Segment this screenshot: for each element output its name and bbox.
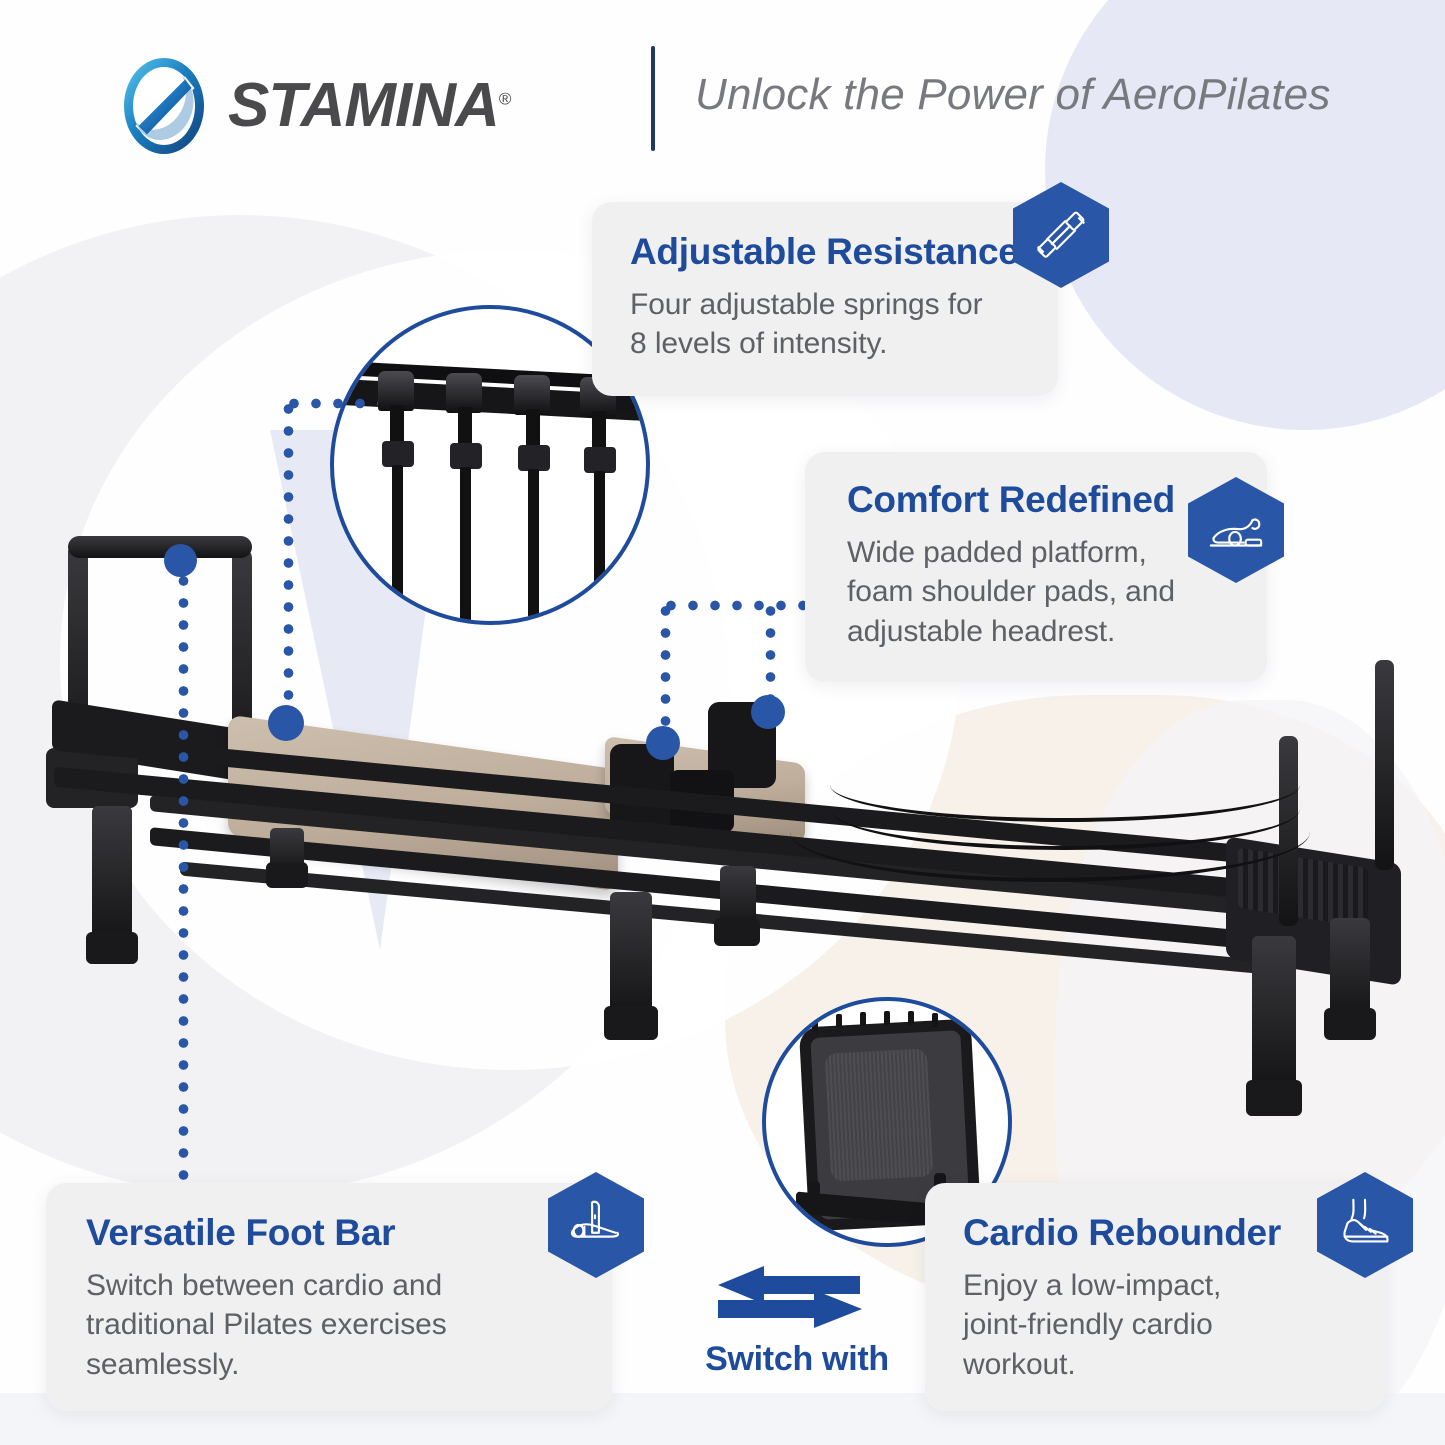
brand-wordmark: STAMINA® (228, 75, 510, 137)
sneaker-icon (1334, 1194, 1396, 1256)
foot-bar-icon (565, 1194, 627, 1256)
feature-body-line: Four adjustable springs for (630, 285, 1030, 325)
header: STAMINA® Unlock the Power of AeroPilates (0, 0, 1445, 182)
connector-comfort-left-vertical (660, 600, 671, 735)
feature-body-line: seamlessly. (86, 1345, 586, 1385)
connector-comfort-right-vertical (765, 600, 776, 708)
spring-icon (1030, 204, 1092, 266)
stamina-oval-logo-icon (122, 56, 206, 156)
brand-logo: STAMINA® (122, 56, 510, 156)
feature-body-line: foam shoulder pads, and (847, 572, 1237, 612)
switch-with-group: Switch with (682, 1262, 912, 1390)
header-divider (651, 46, 655, 151)
connector-resistance-horizontal (283, 398, 378, 409)
feature-title-comfort-redefined: Comfort Redefined (847, 480, 1237, 521)
feature-body-line: Enjoy a low-impact, (963, 1266, 1363, 1306)
switch-with-label: Switch with (682, 1340, 912, 1379)
feature-card-adjustable-resistance: Adjustable Resistance Four adjustable sp… (592, 202, 1058, 396)
feature-body-line: 8 levels of intensity. (630, 324, 1030, 364)
feature-card-comfort-redefined: Comfort Redefined Wide padded platform, … (805, 452, 1267, 682)
feature-body-line: Switch between cardio and (86, 1266, 586, 1306)
feature-body-line: traditional Pilates exercises (86, 1305, 586, 1345)
feature-title-versatile-foot-bar: Versatile Foot Bar (86, 1213, 586, 1254)
feature-title-cardio-rebounder: Cardio Rebounder (963, 1213, 1363, 1254)
two-way-swap-arrows-icon (710, 1262, 882, 1332)
feature-body-line: joint-friendly cardio (963, 1305, 1363, 1345)
connector-dot-comfort-left (646, 726, 680, 760)
connector-comfort-horizontal (660, 600, 820, 611)
infographic-canvas: STAMINA® Unlock the Power of AeroPilates (0, 0, 1445, 1445)
connector-dot-resistance (268, 705, 304, 741)
connector-dot-comfort-right (751, 695, 785, 729)
feature-card-cardio-rebounder: Cardio Rebounder Enjoy a low-impact, joi… (925, 1183, 1385, 1411)
brand-wordmark-text: STAMINA (228, 71, 499, 140)
feature-body-line: adjustable headrest. (847, 612, 1237, 652)
connector-resistance-vertical (283, 398, 294, 728)
connector-footbar-vertical (178, 570, 189, 1190)
feature-body-line: Wide padded platform, (847, 533, 1237, 573)
feature-title-adjustable-resistance: Adjustable Resistance (630, 232, 1030, 273)
header-tagline: Unlock the Power of AeroPilates (695, 70, 1331, 120)
registered-mark: ® (499, 89, 511, 108)
feature-body-line: workout. (963, 1345, 1363, 1385)
connector-dot-footbar (164, 544, 197, 577)
feature-card-versatile-foot-bar: Versatile Foot Bar Switch between cardio… (46, 1183, 612, 1411)
person-lying-on-reformer-icon (1205, 499, 1267, 561)
